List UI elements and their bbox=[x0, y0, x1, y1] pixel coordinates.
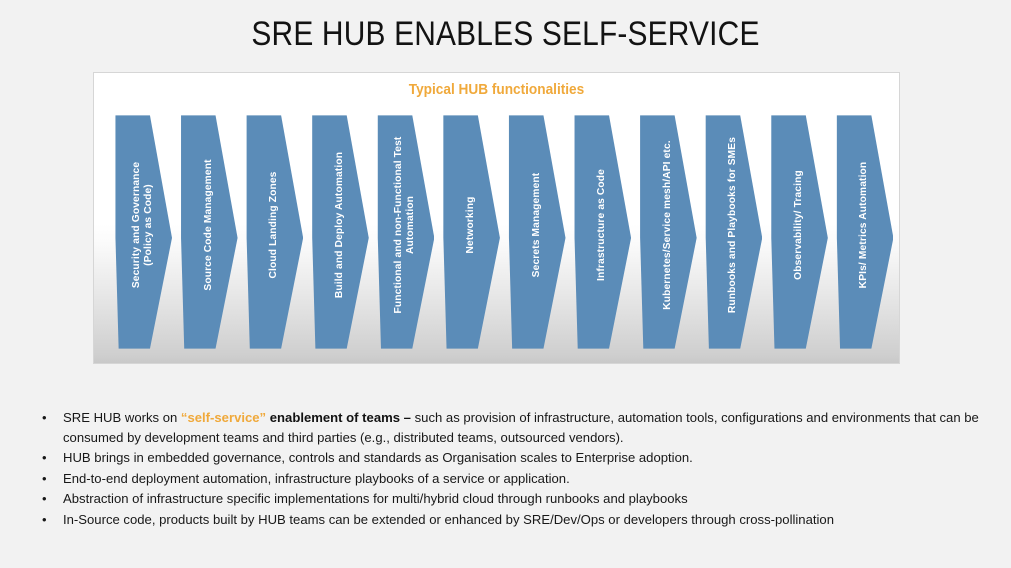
bullet-list: •SRE HUB works on “self-service” enablem… bbox=[33, 408, 993, 530]
bullet-marker-icon: • bbox=[33, 489, 63, 508]
process-arrow[interactable]: Functional and non-Functional Test Autom… bbox=[376, 114, 434, 350]
bullet-text-segment: “self-service” bbox=[181, 410, 266, 425]
bullet-item: •End-to-end deployment automation, infra… bbox=[33, 469, 993, 489]
bullet-text-segment: SRE HUB works on bbox=[63, 410, 181, 425]
diagram-panel: Typical HUB functionalities Security and… bbox=[93, 72, 900, 364]
arrow-shape-icon bbox=[114, 114, 172, 350]
process-arrow[interactable]: Runbooks and Playbooks for SMEs bbox=[704, 114, 762, 350]
process-arrow[interactable]: Networking bbox=[442, 114, 500, 350]
process-arrow[interactable]: Security and Governance (Policy as Code) bbox=[114, 114, 172, 350]
bullet-marker-icon: • bbox=[33, 510, 63, 529]
process-arrow[interactable]: Source Code Management bbox=[180, 114, 238, 350]
bullet-item: •Abstraction of infrastructure specific … bbox=[33, 489, 993, 509]
arrow-shape-icon bbox=[835, 114, 893, 350]
process-arrow[interactable]: KPIs/ Metrics Automation bbox=[835, 114, 893, 350]
bullet-text-segment: End-to-end deployment automation, infras… bbox=[63, 471, 570, 486]
bullet-item: •In-Source code, products built by HUB t… bbox=[33, 510, 993, 530]
process-arrow[interactable]: Build and Deploy Automation bbox=[311, 114, 369, 350]
process-arrow[interactable]: Secrets Management bbox=[508, 114, 566, 350]
arrow-shape-icon bbox=[770, 114, 828, 350]
bullet-text-segment: HUB brings in embedded governance, contr… bbox=[63, 450, 693, 465]
process-arrow[interactable]: Observability/ Tracing bbox=[770, 114, 828, 350]
arrow-shape-icon bbox=[639, 114, 697, 350]
process-arrow[interactable]: Infrastructure as Code bbox=[573, 114, 631, 350]
arrow-shape-icon bbox=[311, 114, 369, 350]
page-title: SRE HUB ENABLES SELF-SERVICE bbox=[61, 14, 951, 54]
arrow-shape-icon bbox=[245, 114, 303, 350]
arrow-shape-icon bbox=[376, 114, 434, 350]
bullet-marker-icon: • bbox=[33, 408, 63, 427]
arrow-shape-icon bbox=[573, 114, 631, 350]
process-arrows-row: Security and Governance (Policy as Code)… bbox=[114, 114, 901, 350]
bullet-text: In-Source code, products built by HUB te… bbox=[63, 510, 979, 530]
arrow-shape-icon bbox=[180, 114, 238, 350]
bullet-item: •HUB brings in embedded governance, cont… bbox=[33, 448, 993, 468]
bullet-text: End-to-end deployment automation, infras… bbox=[63, 469, 979, 489]
bullet-text-segment: In-Source code, products built by HUB te… bbox=[63, 512, 834, 527]
process-arrow[interactable]: Kubernetes/Service mesh/API etc. bbox=[639, 114, 697, 350]
arrow-shape-icon bbox=[704, 114, 762, 350]
bullet-text: HUB brings in embedded governance, contr… bbox=[63, 448, 979, 468]
arrow-shape-icon bbox=[442, 114, 500, 350]
bullet-text-segment: enablement of teams – bbox=[266, 410, 411, 425]
bullet-item: •SRE HUB works on “self-service” enablem… bbox=[33, 408, 993, 447]
bullet-text-segment: Abstraction of infrastructure specific i… bbox=[63, 491, 688, 506]
bullet-marker-icon: • bbox=[33, 469, 63, 488]
bullet-text: Abstraction of infrastructure specific i… bbox=[63, 489, 979, 509]
process-arrow[interactable]: Cloud Landing Zones bbox=[245, 114, 303, 350]
arrow-shape-icon bbox=[508, 114, 566, 350]
bullet-text: SRE HUB works on “self-service” enableme… bbox=[63, 408, 979, 447]
diagram-heading: Typical HUB functionalities bbox=[118, 82, 875, 98]
bullet-marker-icon: • bbox=[33, 448, 63, 467]
